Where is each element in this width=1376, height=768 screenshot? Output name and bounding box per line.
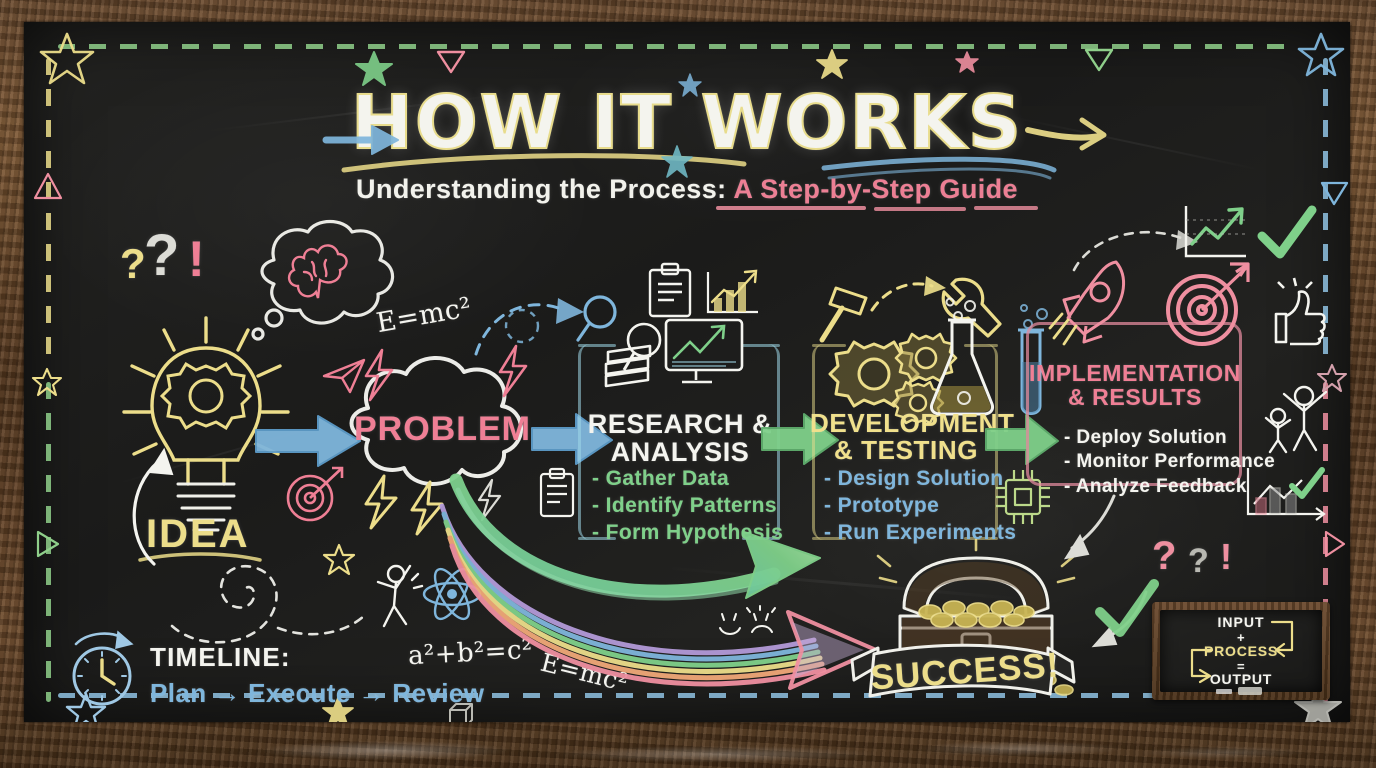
title-left-arrow-icon bbox=[324, 114, 404, 166]
clipboard-icon bbox=[644, 262, 698, 320]
growth-chart-icon bbox=[1176, 200, 1254, 272]
exclamation-mark-pink-icon: ! bbox=[188, 230, 205, 288]
celebrating-people-icon bbox=[1262, 378, 1334, 456]
star-yellow-left-icon bbox=[30, 366, 64, 400]
implementation-line-1: IMPLEMENTATION bbox=[1026, 362, 1244, 386]
paper-plane-icon bbox=[320, 352, 372, 398]
stick-figure-icon bbox=[362, 556, 426, 632]
star-blue-icon bbox=[1294, 30, 1350, 86]
target-icon bbox=[280, 462, 350, 526]
star-pink-small-icon bbox=[954, 50, 980, 76]
mini-board-eraser bbox=[1238, 687, 1262, 695]
triangle-pink-icon bbox=[434, 46, 468, 76]
implementation-to-success-arrow bbox=[1060, 492, 1130, 570]
rainbow-success-arrow bbox=[424, 492, 894, 702]
timeline-label: TIMELINE: bbox=[150, 642, 291, 673]
research-line-1: RESEARCH & bbox=[576, 410, 784, 438]
triangle-green-left-icon bbox=[32, 528, 62, 560]
lightning-bolt-yellow-icon bbox=[360, 474, 404, 532]
subtitle-main: Understanding the Process: bbox=[356, 174, 733, 204]
question-mark-pink-icon: ? bbox=[1152, 534, 1177, 579]
subtitle-underline bbox=[714, 200, 1044, 216]
books-magnifier-monitor-icon bbox=[600, 310, 760, 396]
star-blue-title-icon bbox=[676, 72, 704, 100]
mini-board-output: OUTPUT bbox=[1160, 671, 1322, 687]
checkmark-green-top-icon bbox=[1256, 202, 1318, 268]
page-subtitle: Understanding the Process: A Step-by-Ste… bbox=[24, 174, 1350, 205]
question-mark-white-icon: ? bbox=[144, 222, 180, 289]
implementation-line-2: & RESULTS bbox=[1026, 386, 1244, 410]
mini-board-input: INPUT bbox=[1160, 614, 1322, 630]
implementation-bullet-0: - Deploy Solution bbox=[1064, 426, 1275, 450]
star-yellow-small-icon bbox=[814, 48, 850, 84]
timeline-steps: Plan → Execute → Review bbox=[150, 678, 484, 709]
triangle-pink-right-icon bbox=[1318, 528, 1348, 560]
stage-label-problem: PROBLEM bbox=[354, 410, 522, 449]
exclamation-mark-pink-2-icon: ! bbox=[1220, 536, 1232, 578]
star-yellow-mid-icon bbox=[320, 542, 358, 580]
mini-chalkboard: INPUT + PROCESS = OUTPUT bbox=[1152, 602, 1330, 700]
development-line-1: DEVELOPMENT bbox=[810, 410, 1002, 437]
emoji-faces-icon bbox=[714, 608, 780, 650]
stage-label-development: DEVELOPMENT & TESTING bbox=[810, 410, 1002, 464]
chalkboard: HOW IT WORKS Understandi bbox=[24, 22, 1350, 722]
mini-board-chalk-stick bbox=[1216, 689, 1232, 694]
development-line-2: & TESTING bbox=[810, 437, 1002, 464]
flask-icon bbox=[924, 312, 1004, 422]
question-mark-grey-icon: ? bbox=[1188, 542, 1209, 581]
clock-icon bbox=[60, 630, 146, 716]
thumbs-up-icon bbox=[1268, 284, 1328, 350]
triangle-green-icon bbox=[1082, 44, 1116, 74]
question-mark-yellow-icon: ? bbox=[120, 240, 146, 288]
bar-chart-yellow-icon bbox=[700, 266, 764, 322]
stage-label-research: RESEARCH & ANALYSIS bbox=[576, 410, 784, 466]
bar-chart-check-icon bbox=[1240, 464, 1328, 528]
mini-board-process: PROCESS bbox=[1160, 643, 1322, 659]
wooden-frame: HOW IT WORKS Understandi bbox=[0, 0, 1376, 768]
title-right-arrow-icon bbox=[1024, 110, 1110, 164]
stage-label-implementation: IMPLEMENTATION & RESULTS bbox=[1026, 362, 1244, 410]
dashed-circle-icon bbox=[500, 304, 544, 348]
